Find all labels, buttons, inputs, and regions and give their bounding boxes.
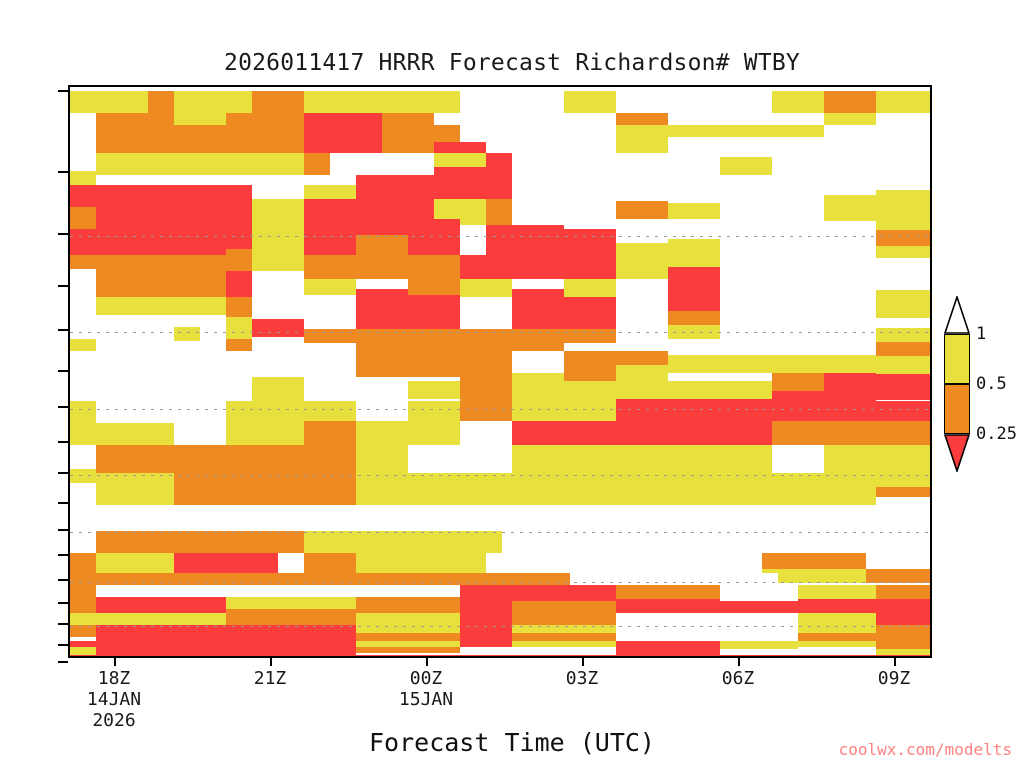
- footer-credit: coolwx.com/modelts: [839, 740, 1012, 759]
- page-title: 2026011417 HRRR Forecast Richardson# WTB…: [0, 50, 1024, 76]
- colorbar-tick-label: 1: [976, 324, 986, 344]
- y-axis-tick-mark: [58, 406, 68, 408]
- x-axis-tick-label: 21Z: [254, 668, 287, 689]
- colorbar-segment: [944, 384, 970, 434]
- colorbar-legend: 10.50.25: [944, 296, 970, 472]
- y-axis-tick-mark: [58, 171, 68, 173]
- y-axis-tick-mark: [58, 623, 68, 625]
- y-axis-tick-mark: [58, 472, 68, 474]
- colorbar-segment: [944, 334, 970, 384]
- x-tick-time: 09Z: [878, 668, 911, 689]
- x-tick-time: 18Z: [87, 668, 141, 689]
- y-axis-tick-mark: [58, 579, 68, 581]
- x-tick-date: 15JAN: [399, 689, 453, 710]
- x-axis-tick-mark: [426, 658, 428, 666]
- y-axis-tick-mark: [58, 233, 68, 235]
- x-axis-tick-label: 00Z15JAN: [399, 668, 453, 710]
- x-tick-time: 21Z: [254, 668, 287, 689]
- x-tick-time: 03Z: [566, 668, 599, 689]
- ground-top-dots: [70, 656, 930, 658]
- x-tick-time: 00Z: [399, 668, 453, 689]
- x-axis-tick-mark: [114, 658, 116, 666]
- y-axis-tick-mark: [58, 529, 68, 531]
- colorbar-tick-label: 0.25: [976, 424, 1017, 444]
- x-axis-tick-mark: [582, 658, 584, 666]
- x-axis-tick-label: 09Z: [878, 668, 911, 689]
- y-axis-tick-mark: [58, 661, 68, 663]
- x-axis-tick-mark: [270, 658, 272, 666]
- y-axis-tick-mark: [58, 502, 68, 504]
- y-axis-tick-mark: [58, 554, 68, 556]
- colorbar-tick-label: 0.5: [976, 374, 1007, 394]
- x-tick-time: 06Z: [722, 668, 755, 689]
- plot-area: [68, 85, 932, 658]
- chart-root: 2026011417 HRRR Forecast Richardson# WTB…: [0, 0, 1024, 768]
- x-axis-tick-label: 18Z14JAN2026: [87, 668, 141, 731]
- y-axis-tick-mark: [58, 644, 68, 646]
- y-axis-ticks: 2002503003504004505005506006507007508008…: [0, 0, 58, 768]
- y-axis-tick-mark: [58, 441, 68, 443]
- y-axis-tick-mark: [58, 285, 68, 287]
- y-axis-tick-mark: [58, 602, 68, 604]
- x-axis-tick-label: 06Z: [722, 668, 755, 689]
- x-axis-tick-label: 03Z: [566, 668, 599, 689]
- colorbar-arrow-top: [944, 296, 970, 334]
- y-axis-tick-mark: [58, 90, 68, 92]
- x-axis-tick-mark: [894, 658, 896, 666]
- x-axis-tick-mark: [738, 658, 740, 666]
- y-axis-tick-mark: [58, 370, 68, 372]
- colorbar-arrow-bottom: [944, 434, 970, 472]
- terrain-layer: [70, 87, 930, 656]
- x-tick-date: 14JAN: [87, 689, 141, 710]
- y-axis-tick-mark: [58, 329, 68, 331]
